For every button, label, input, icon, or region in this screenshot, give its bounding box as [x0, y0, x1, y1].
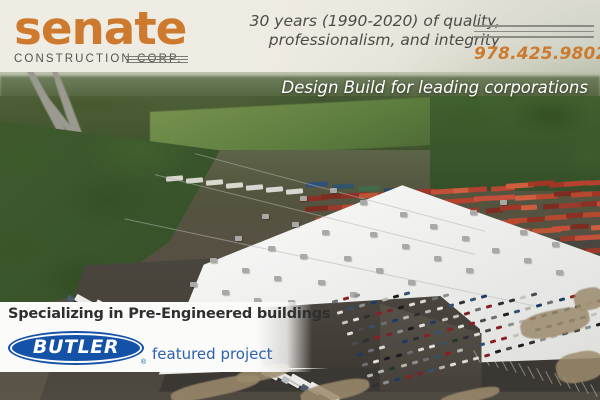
tagline: 30 years (1990-2020) of quality, profess… [200, 12, 500, 50]
header-bar: senate CONSTRUCTION CORP. 30 years (1990… [0, 0, 600, 72]
subheadline: Design Build for leading corporations [160, 78, 588, 97]
logo-rule-lines [126, 56, 188, 65]
logo-wordmark: senate [14, 6, 189, 52]
marketing-banner-image: senate CONSTRUCTION CORP. 30 years (1990… [0, 0, 600, 400]
banner-headline: Specializing in Pre-Engineered buildings [8, 306, 330, 322]
butler-logo-text: BUTLER [8, 330, 144, 364]
tree-cover-right [430, 96, 600, 191]
butler-logo[interactable]: BUTLER ® [8, 331, 144, 365]
decorative-rule-lines [474, 25, 594, 42]
registered-trademark-icon: ® [141, 359, 146, 366]
featured-project-caption: featured project [152, 345, 273, 363]
phone-number[interactable]: 978.425.9802 [474, 44, 594, 64]
